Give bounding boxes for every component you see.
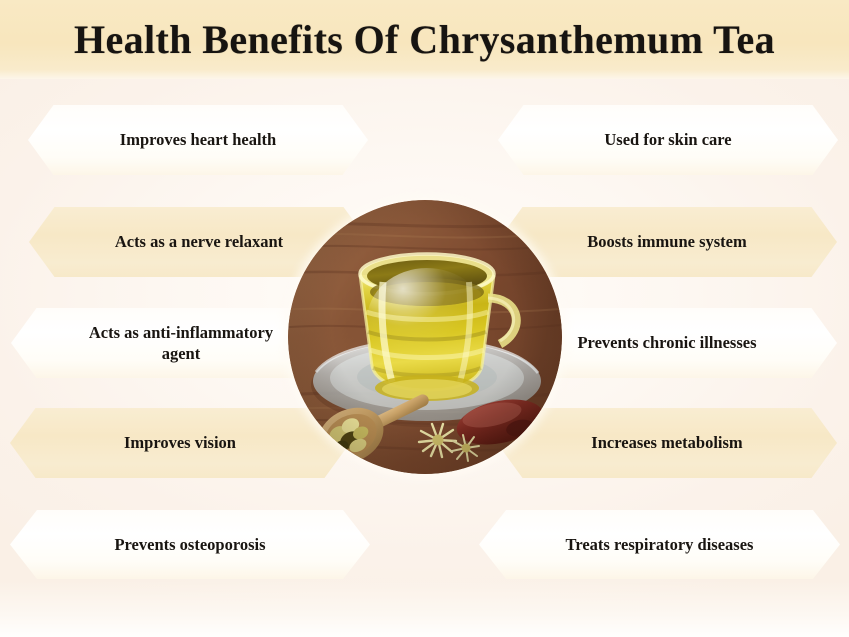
chrysanthemum-tea-photo	[288, 200, 562, 474]
bottom-fade	[0, 581, 849, 637]
benefit-label: Increases metabolism	[565, 432, 768, 453]
benefit-label: Prevents osteoporosis	[88, 534, 291, 555]
benefit-chip-boosts-immune-system[interactable]: Boosts immune system	[497, 207, 837, 277]
benefit-chip-improves-vision[interactable]: Improves vision	[10, 408, 350, 478]
benefit-chip-improves-heart-health[interactable]: Improves heart health	[28, 105, 368, 175]
infographic-canvas: Health Benefits Of Chrysanthemum Tea Imp…	[0, 0, 849, 637]
tea-photo-illustration	[288, 200, 562, 474]
benefit-label: Boosts immune system	[561, 231, 773, 252]
benefit-chip-increases-metabolism[interactable]: Increases metabolism	[497, 408, 837, 478]
benefit-label: Prevents chronic illnesses	[559, 332, 774, 353]
benefit-label: Improves vision	[98, 432, 262, 453]
benefit-chip-treats-respiratory-diseases[interactable]: Treats respiratory diseases	[479, 510, 840, 579]
benefit-chip-prevents-osteoporosis[interactable]: Prevents osteoporosis	[10, 510, 370, 579]
benefit-label: Improves heart health	[94, 129, 302, 150]
benefit-label: Acts as a nerve relaxant	[89, 231, 309, 252]
benefit-label: Used for skin care	[578, 129, 757, 150]
benefit-chip-used-for-skin-care[interactable]: Used for skin care	[498, 105, 838, 175]
benefit-label: Acts as anti-inflammatory agent	[71, 322, 291, 364]
page-title: Health Benefits Of Chrysanthemum Tea	[0, 0, 849, 79]
benefit-label: Treats respiratory diseases	[540, 534, 780, 555]
